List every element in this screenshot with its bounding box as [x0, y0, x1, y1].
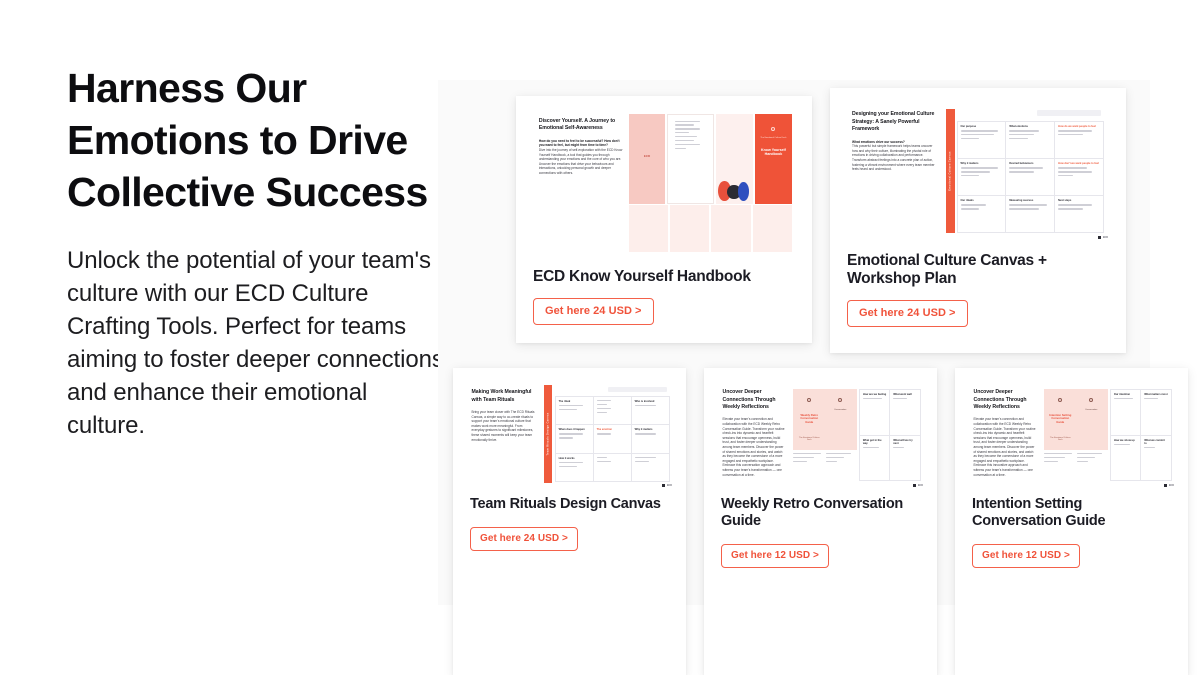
product-card[interactable]: Discover Yourself. A Journey to Emotiona… — [516, 96, 812, 343]
product-card[interactable]: Uncover Deeper Connections Through Weekl… — [955, 368, 1188, 675]
thumbnail-brand-mark: ECD — [913, 484, 923, 488]
buy-button[interactable]: Get here 24 USD > — [847, 300, 968, 327]
thumbnail-card-block: Weekly Retro Conversation Guide The Emot… — [793, 389, 857, 449]
product-thumbnail: Uncover Deeper Connections Through Weekl… — [965, 378, 1178, 490]
product-card-body: Emotional Culture Canvas + Workshop Plan… — [847, 252, 1112, 327]
thumbnail-text-page: Discover Yourself. A Journey to Emotiona… — [539, 118, 623, 176]
thumbnail-brand-mark: ECD — [1164, 484, 1174, 488]
product-card[interactable]: Uncover Deeper Connections Through Weekl… — [704, 368, 937, 675]
thumbnail-spread-lower — [629, 205, 792, 252]
hero-description: Unlock the potential of your team's cult… — [67, 244, 447, 442]
brand-square-icon — [913, 484, 917, 488]
thumbnail-text-page: Uncover Deeper Connections Through Weekl… — [723, 389, 787, 477]
product-thumbnail: Discover Yourself. A Journey to Emotiona… — [528, 106, 800, 256]
thumbnail-text-page: Uncover Deeper Connections Through Weekl… — [974, 389, 1038, 477]
product-title: Emotional Culture Canvas + Workshop Plan — [847, 252, 1112, 288]
thumbnail-brand-mark: ECD — [662, 484, 672, 488]
thumbnail-text-page: Designing your Emotional Culture Strateg… — [852, 111, 938, 171]
product-card[interactable]: Making Work Meaningful with Team Rituals… — [453, 368, 686, 675]
product-title: Intention Setting Conversation Guide — [972, 496, 1174, 530]
product-card-body: Intention Setting Conversation Guide Get… — [972, 496, 1174, 568]
thumbnail-spread: ECD — [629, 114, 792, 204]
thumbnail-notes-grid: Our intention What matters most How we s… — [1110, 389, 1172, 481]
thumbnail-canvas-grid: Our purpose What emotions How do we want… — [957, 121, 1104, 233]
product-title: ECD Know Yourself Handbook — [533, 268, 798, 286]
thumbnail-brand-mark: ECD — [1098, 236, 1108, 240]
thumbnail-canvas-grid: The ritual Who is involved When does it … — [555, 396, 670, 482]
product-card-body: Team Rituals Design Canvas Get here 24 U… — [470, 496, 672, 551]
product-card-body: ECD Know Yourself Handbook Get here 24 U… — [533, 268, 798, 325]
thumbnail-search-pill — [608, 387, 668, 392]
product-title: Weekly Retro Conversation Guide — [721, 496, 923, 530]
buy-button[interactable]: Get here 24 USD > — [470, 527, 578, 551]
buy-button[interactable]: Get here 24 USD > — [533, 298, 654, 325]
buy-button[interactable]: Get here 12 USD > — [972, 544, 1080, 568]
product-thumbnail: Uncover Deeper Connections Through Weekl… — [714, 378, 927, 490]
product-card[interactable]: Designing your Emotional Culture Strateg… — [830, 88, 1126, 353]
product-title: Team Rituals Design Canvas — [470, 496, 672, 513]
thumbnail-text-page: Making Work Meaningful with Team Rituals… — [472, 389, 536, 442]
product-gallery: Discover Yourself. A Journey to Emotiona… — [438, 80, 1150, 605]
product-thumbnail: Making Work Meaningful with Team Rituals… — [463, 378, 676, 490]
brand-square-icon — [662, 484, 666, 488]
landing-page: Harness Our Emotions to Drive Collective… — [0, 0, 1200, 675]
buy-button[interactable]: Get here 12 USD > — [721, 544, 829, 568]
page-title: Harness Our Emotions to Drive Collective… — [67, 62, 447, 218]
thumbnail-search-pill — [1037, 110, 1101, 116]
thumbnail-spine: Emotional Culture Canvas — [946, 109, 955, 234]
product-thumbnail: Designing your Emotional Culture Strateg… — [844, 100, 1112, 242]
brand-square-icon — [1098, 236, 1102, 240]
thumbnail-spine: Team Rituals Design Canvas — [544, 385, 552, 484]
hero-copy: Harness Our Emotions to Drive Collective… — [67, 62, 447, 442]
product-card-body: Weekly Retro Conversation Guide Get here… — [721, 496, 923, 568]
brand-square-icon — [1164, 484, 1168, 488]
thumbnail-notes-grid: How are we feeling What went well What g… — [859, 389, 921, 481]
thumbnail-card-block: Intention Setting Conversation Guide The… — [1044, 389, 1108, 449]
